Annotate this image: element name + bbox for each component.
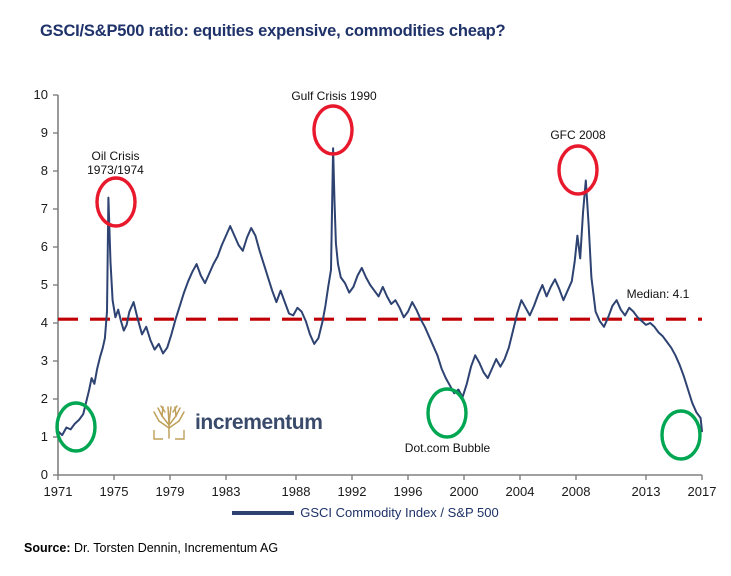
source-label: Source: xyxy=(24,541,71,555)
annotation-dotcom-bubble: Dot.com Bubble xyxy=(385,441,510,455)
red-ellipse-oil-crisis xyxy=(97,178,135,226)
legend-swatch-series xyxy=(232,511,294,515)
green-ellipse-end xyxy=(662,411,700,459)
source-text: Dr. Torsten Dennin, Incrementum AG xyxy=(71,541,279,555)
annotation-gfc: GFC 2008 xyxy=(524,128,632,142)
red-ellipse-gulf-crisis xyxy=(314,106,352,154)
green-ellipse-start xyxy=(57,403,95,451)
logo-wordmark: incrementum xyxy=(195,411,322,435)
chart-legend: GSCI Commodity Index / S&P 500 xyxy=(0,505,731,520)
red-ellipse-gfc xyxy=(559,146,597,194)
source-note: Source: Dr. Torsten Dennin, Incrementum … xyxy=(24,541,278,555)
green-ellipse-dotcom xyxy=(428,389,466,437)
chart-root: GSCI/S&P500 ratio: equities expensive, c… xyxy=(0,0,731,576)
legend-label-series: GSCI Commodity Index / S&P 500 xyxy=(300,505,498,520)
incrementum-logo: incrementum xyxy=(152,404,322,442)
tree-icon xyxy=(152,404,186,442)
annotation-gulf-crisis: Gulf Crisis 1990 xyxy=(273,89,395,103)
annotation-median-label: Median: 4.1 xyxy=(604,287,712,301)
annotation-oil-crisis: Oil Crisis1973/1974 xyxy=(58,149,173,177)
